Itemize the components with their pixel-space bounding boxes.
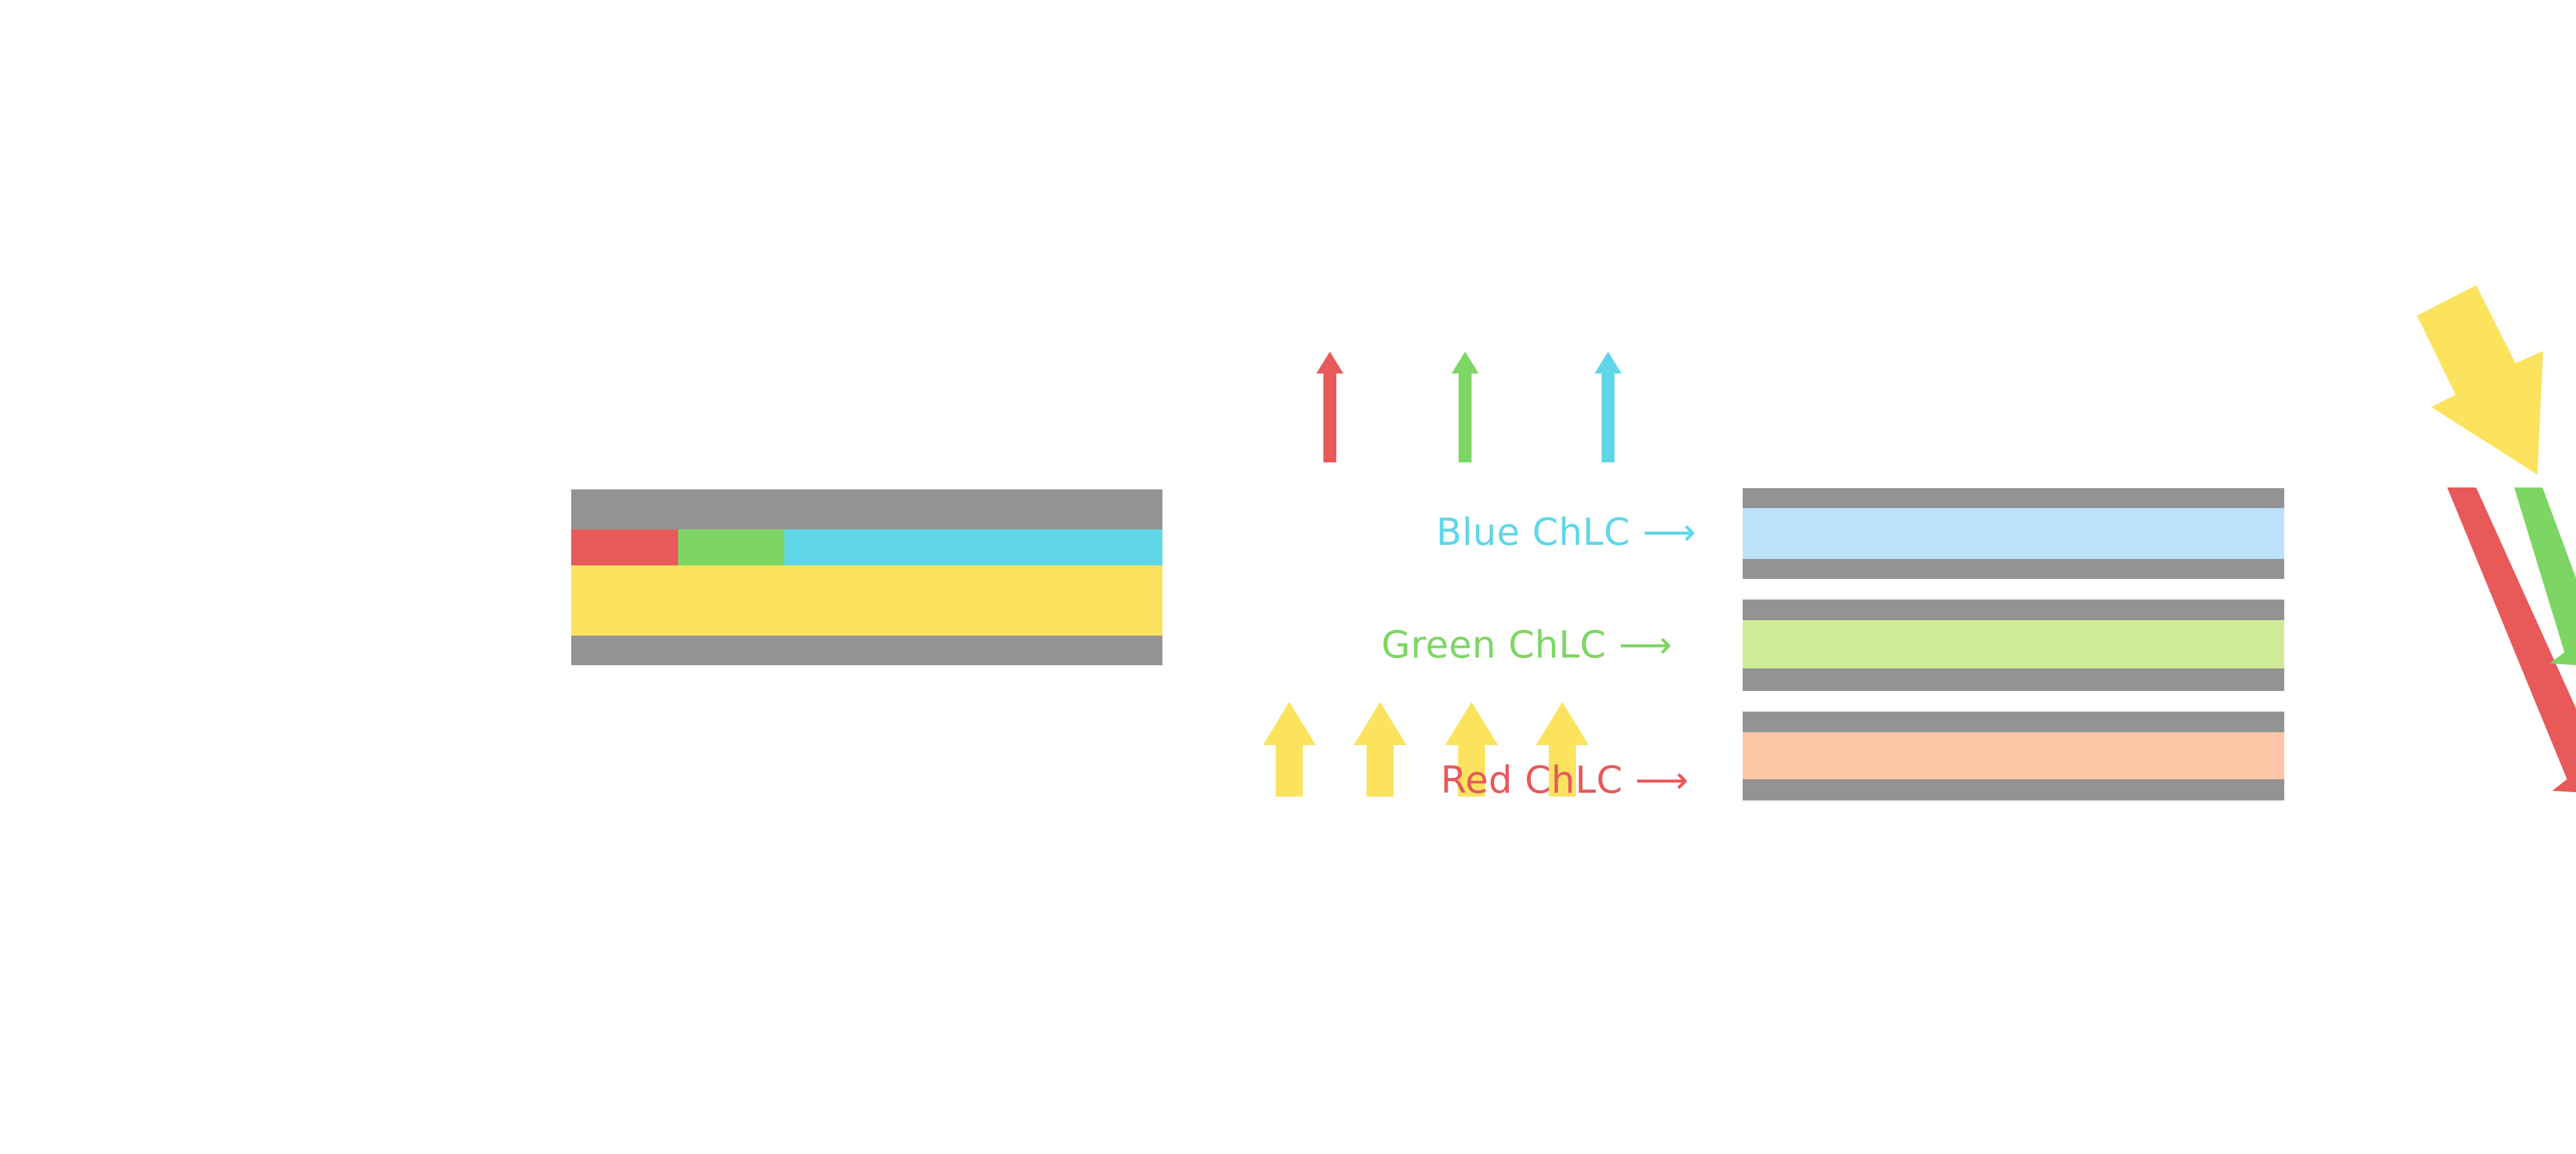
- red-subpixel-segment: [571, 529, 678, 565]
- label-blue-chlc-arrow-icon: ⟶: [1642, 510, 1696, 554]
- label-green-chlc: Green ChLC ⟶: [1381, 626, 1672, 663]
- green-incoming-ray: [2514, 487, 2576, 667]
- left-yellow-backlight-layer: [571, 565, 1162, 636]
- red-chlc-layer: [1743, 732, 2284, 779]
- green-subpixel-segment: [678, 529, 784, 565]
- label-red-chlc: Red ChLC ⟶: [1441, 761, 1689, 799]
- label-blue-chlc: Blue ChLC ⟶: [1436, 513, 1696, 551]
- right-panel-chlc-stack: Blue ChLC ⟶ Green ChLC ⟶ Red ChLC ⟶: [1288, 0, 2576, 1154]
- left-bottom-electrode-layer: [571, 636, 1162, 665]
- label-blue-chlc-text: Blue ChLC: [1436, 510, 1630, 554]
- red-incoming-ray: [2447, 487, 2576, 793]
- blue-chlc-layer: [1743, 508, 2284, 559]
- left-color-filter-row: [571, 529, 1162, 565]
- label-red-chlc-text: Red ChLC: [1441, 758, 1623, 802]
- label-green-chlc-text: Green ChLC: [1381, 623, 1606, 667]
- substrate-3-layer: [1743, 600, 2284, 620]
- left-top-electrode-layer: [571, 489, 1162, 529]
- substrate-top-layer: [1743, 488, 2284, 508]
- diagram-canvas: Blue ChLC ⟶ Green ChLC ⟶ Red ChLC ⟶: [0, 0, 2576, 1154]
- incident-white-light-arrow: [2417, 285, 2543, 475]
- substrate-5-layer: [1743, 712, 2284, 732]
- substrate-2-layer: [1743, 559, 2284, 579]
- green-chlc-layer: [1743, 620, 2284, 668]
- substrate-bottom-layer: [1743, 779, 2284, 800]
- blue-subpixel-segment: [784, 529, 1162, 565]
- left-panel-emissive-stack: [0, 0, 1288, 1154]
- label-green-chlc-arrow-icon: ⟶: [1618, 623, 1672, 667]
- substrate-4-layer: [1743, 668, 2284, 691]
- label-red-chlc-arrow-icon: ⟶: [1635, 758, 1689, 802]
